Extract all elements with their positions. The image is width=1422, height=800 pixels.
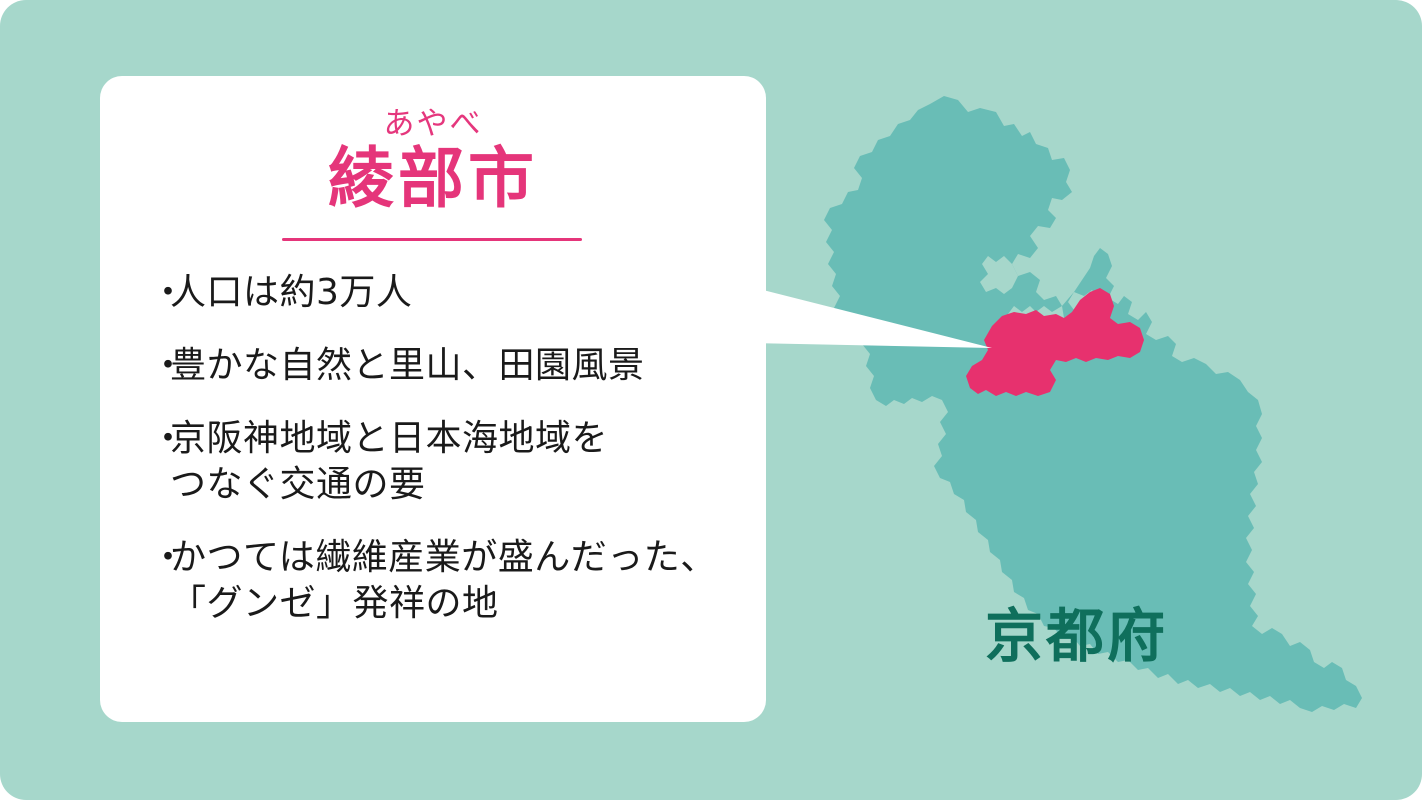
city-info-card: あやべ 綾部市 ・ 人口は約3万人 ・ 豊かな自然と里山、田園風景 ・ 京阪神地…	[100, 76, 766, 722]
list-item-text: 京阪神地域と日本海地域を つなぐ交通の要	[170, 416, 748, 508]
bullet-marker-icon: ・	[150, 416, 170, 462]
list-item: ・ 京阪神地域と日本海地域を つなぐ交通の要	[150, 416, 748, 508]
fact-list: ・ 人口は約3万人 ・ 豊かな自然と里山、田園風景 ・ 京阪神地域と日本海地域を…	[150, 270, 748, 654]
list-item: ・ 豊かな自然と里山、田園風景	[150, 343, 748, 389]
city-title: 綾部市	[100, 146, 766, 212]
list-item: ・ かつては繊維産業が盛んだった、 「グンゼ」発祥の地	[150, 535, 748, 627]
city-furigana: あやべ	[100, 109, 766, 140]
infographic-stage: 京都府 あやべ 綾部市 ・ 人口は約3万人 ・ 豊かな自然と里山、田園風景 ・ …	[0, 0, 1422, 800]
list-item-text: 人口は約3万人	[170, 270, 748, 316]
list-item: ・ 人口は約3万人	[150, 270, 748, 316]
bullet-marker-icon: ・	[150, 343, 170, 389]
title-divider	[282, 238, 582, 241]
bullet-marker-icon: ・	[150, 270, 170, 316]
list-item-text: 豊かな自然と里山、田園風景	[170, 343, 748, 389]
prefecture-label: 京都府	[985, 607, 1168, 665]
list-item-text: かつては繊維産業が盛んだった、 「グンゼ」発祥の地	[170, 535, 748, 627]
bullet-marker-icon: ・	[150, 535, 170, 581]
